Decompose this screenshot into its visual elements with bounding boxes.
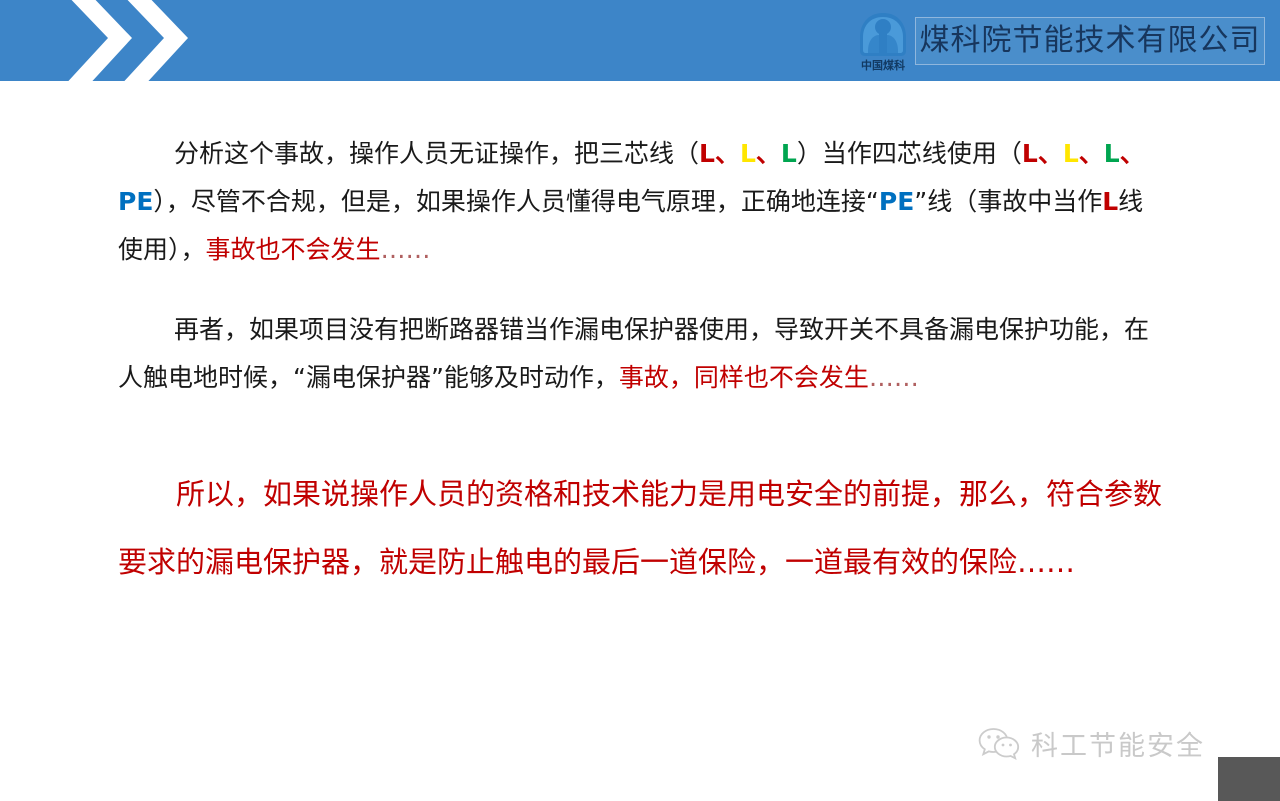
conductor-label-l-red: L xyxy=(1102,187,1118,216)
ellipsis: …… xyxy=(869,363,919,392)
corner-block xyxy=(1218,757,1280,801)
conductor-label-pe: PE xyxy=(879,187,914,216)
conductor-label-l-green: L xyxy=(1104,139,1120,168)
company-name-label: 煤科院节能技术有限公司 xyxy=(920,26,1261,56)
paragraph-conclusion: 所以，如果说操作人员的资格和技术能力是用电安全的前提，那么，符合参数要求的漏电保… xyxy=(118,460,1173,596)
conductor-label-l-red: L xyxy=(1022,139,1038,168)
separator: 、 xyxy=(715,139,740,168)
watermark-label: 科工节能安全 xyxy=(1031,724,1205,763)
conductor-label-pe: PE xyxy=(118,187,153,216)
slide-header-band: 中国煤科 煤科院节能技术有限公司 xyxy=(0,0,1280,81)
emphasis-no-accident: 事故也不会发生 xyxy=(206,235,381,264)
text-run: ”线（事故中当作 xyxy=(914,187,1102,216)
paragraph-breaker-vs-rcd: 再者，如果项目没有把断路器错当作漏电保护器使用，导致开关不具备漏电保护功能，在人… xyxy=(118,306,1163,402)
paragraph-analysis: 分析这个事故，操作人员无证操作，把三芯线（L、L、L）当作四芯线使用（L、L、L… xyxy=(118,130,1158,274)
china-coal-science-emblem-icon: 中国煤科 xyxy=(852,7,914,73)
separator: 、 xyxy=(1120,139,1145,168)
wechat-icon xyxy=(978,726,1022,762)
conductor-label-l-yellow: L xyxy=(1063,139,1079,168)
wechat-watermark: 科工节能安全 xyxy=(978,724,1205,763)
conductor-label-l-green: L xyxy=(781,139,797,168)
double-chevron-right-icon xyxy=(30,0,200,81)
text-run: ），尽管不合规，但是，如果操作人员懂得电气原理，正确地连接“ xyxy=(153,187,878,216)
separator: 、 xyxy=(1079,139,1104,168)
emphasis-no-accident-2: 事故，同样也不会发生 xyxy=(619,363,869,392)
conductor-label-l-red: L xyxy=(699,139,715,168)
logo-caption: 中国煤科 xyxy=(861,58,905,72)
company-name-box: 煤科院节能技术有限公司 xyxy=(915,17,1265,65)
slide-content-area: 分析这个事故，操作人员无证操作，把三芯线（L、L、L）当作四芯线使用（L、L、L… xyxy=(0,81,1280,720)
text-run: ）当作四芯线使用（ xyxy=(797,139,1022,168)
separator: 、 xyxy=(1038,139,1063,168)
separator: 、 xyxy=(756,139,781,168)
conductor-label-l-yellow: L xyxy=(740,139,756,168)
ellipsis: …… xyxy=(381,235,431,264)
text-run: 分析这个事故，操作人员无证操作，把三芯线（ xyxy=(174,139,699,168)
